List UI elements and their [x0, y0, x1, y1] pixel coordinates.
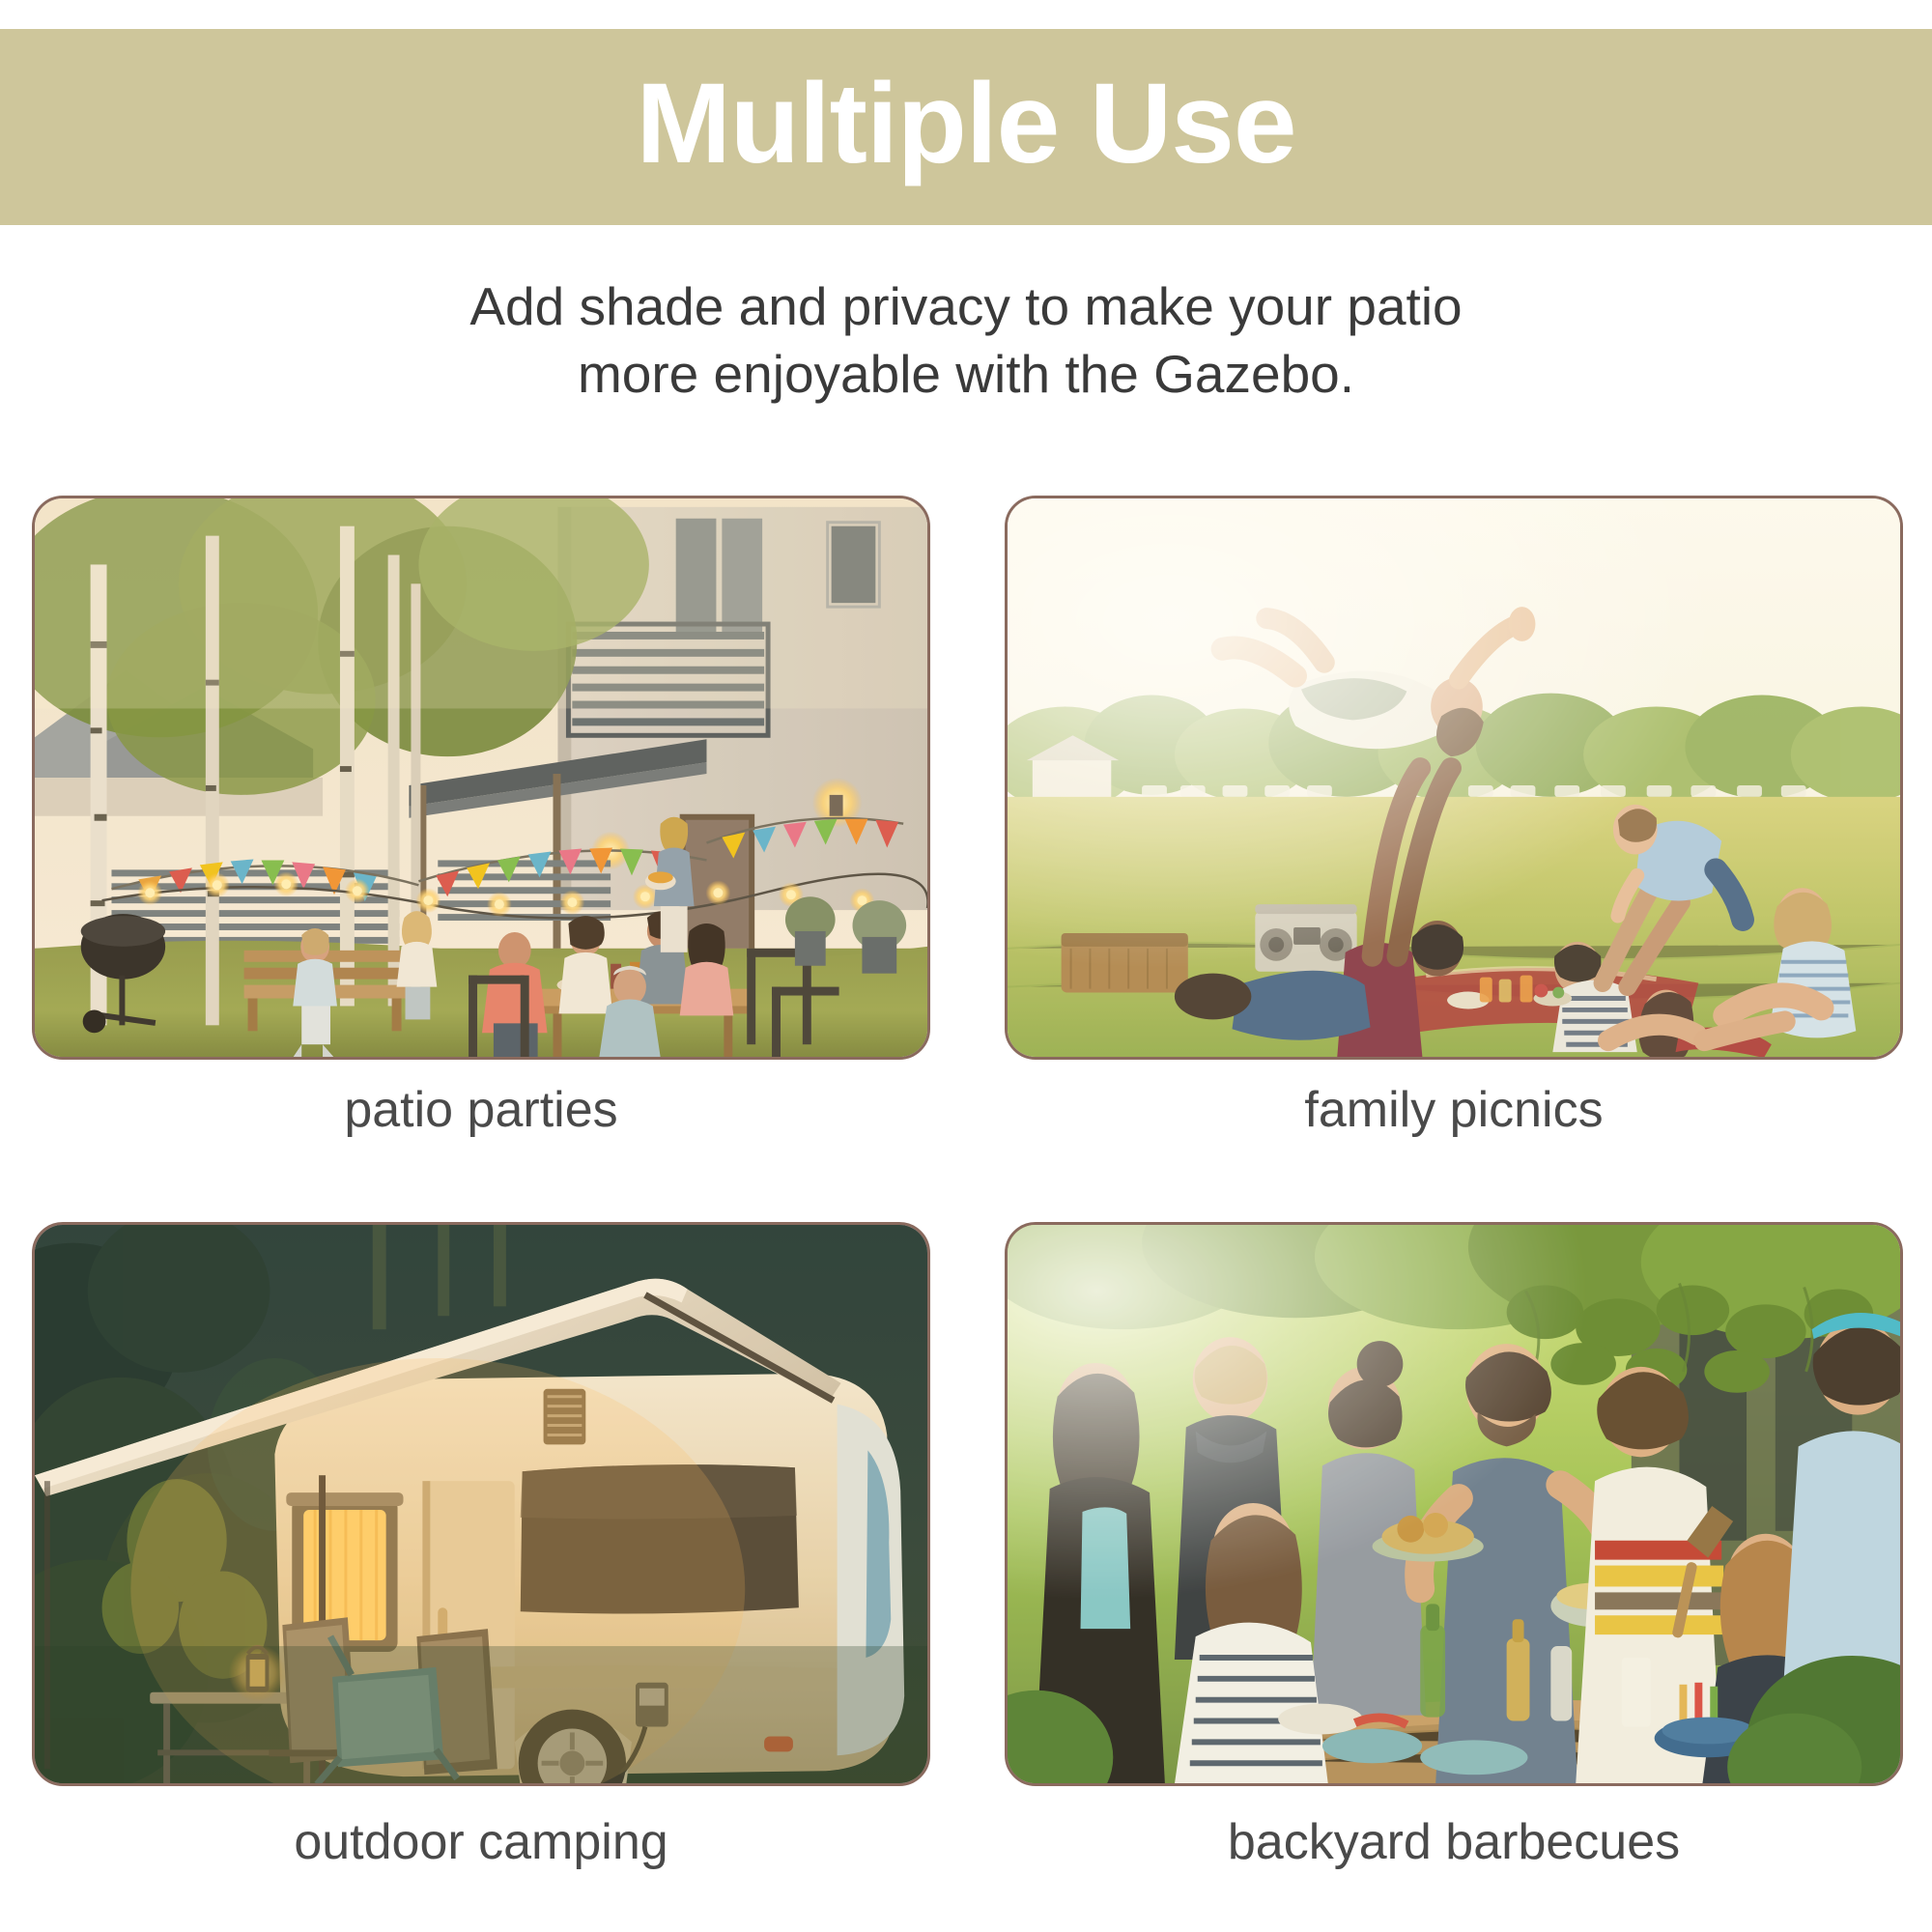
photo-family-picnics [1005, 496, 1903, 1060]
use-case-card-backyard-barbecues: backyard barbecues [1005, 1222, 1903, 1870]
caption-patio-parties: patio parties [32, 1083, 930, 1138]
caption-backyard-barbecues: backyard barbecues [1005, 1815, 1903, 1870]
caption-outdoor-camping: outdoor camping [32, 1815, 930, 1870]
use-case-card-outdoor-camping: outdoor camping [32, 1222, 930, 1870]
photo-backyard-barbecues [1005, 1222, 1903, 1786]
use-case-card-patio-parties: patio parties [32, 496, 930, 1138]
page-title: Multiple Use [637, 67, 1296, 181]
subtitle-line-1: Add shade and privacy to make your patio [0, 272, 1932, 340]
header-banner: Multiple Use [0, 29, 1932, 225]
use-case-card-family-picnics: family picnics [1005, 496, 1903, 1138]
photo-patio-parties [32, 496, 930, 1060]
subtitle: Add shade and privacy to make your patio… [0, 272, 1932, 409]
caption-family-picnics: family picnics [1005, 1083, 1903, 1138]
photo-outdoor-camping [32, 1222, 930, 1786]
subtitle-line-2: more enjoyable with the Gazebo. [0, 340, 1932, 408]
infographic-page: Multiple Use Add shade and privacy to ma… [0, 0, 1932, 1932]
